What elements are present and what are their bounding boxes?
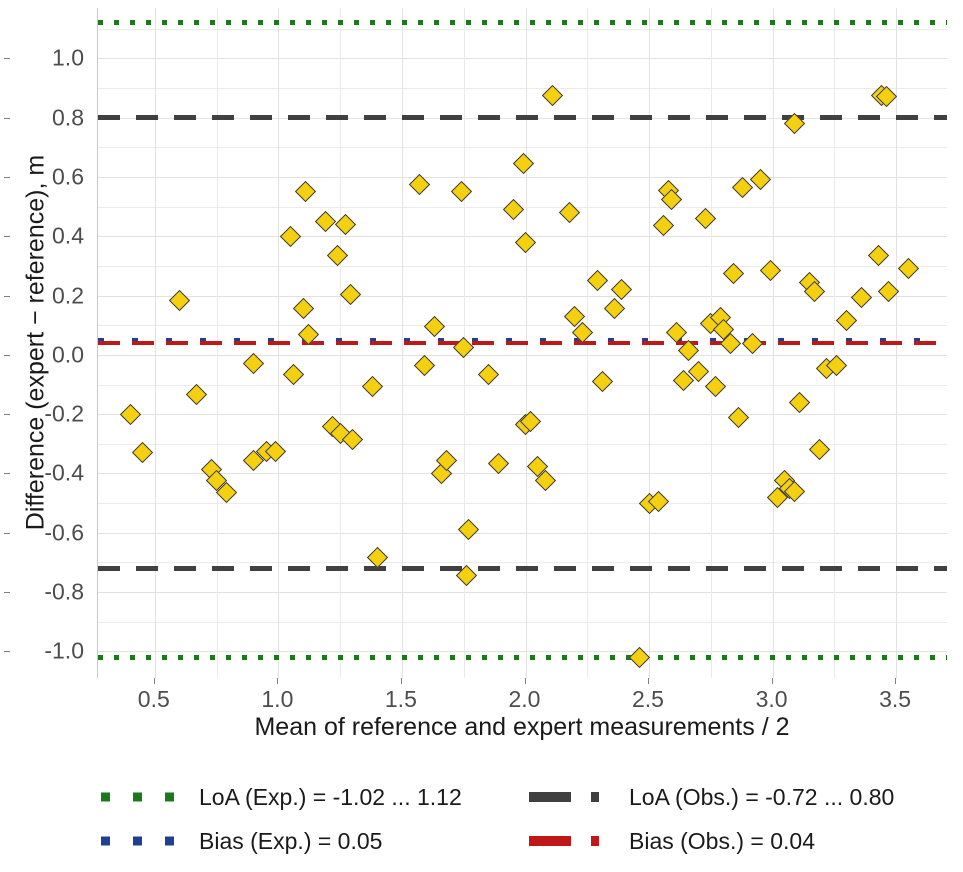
gridline-horizontal-minor [98, 147, 947, 148]
y-axis-tick [4, 177, 10, 178]
legend-key-loa-exp-icon [97, 786, 193, 808]
data-point [705, 375, 726, 396]
legend-key-bias-obs-icon [527, 830, 623, 852]
y-axis-tick-label: 1.0 [20, 45, 84, 72]
x-axis-tick-label: 1.5 [361, 686, 441, 713]
y-axis-tick-label: 0.2 [20, 282, 84, 309]
y-axis-tick-label: 0.0 [20, 341, 84, 368]
data-point [653, 215, 674, 236]
legend-entry-loa-exp: LoA (Exp.) = -1.02 ... 1.12 [97, 784, 527, 811]
data-point [809, 439, 830, 460]
y-axis-tick [4, 58, 10, 59]
x-axis-title: Mean of reference and expert measurement… [97, 713, 947, 742]
y-axis-tick-label: -0.2 [20, 401, 84, 428]
data-point [283, 363, 304, 384]
x-axis-tick [895, 678, 896, 684]
gridline-horizontal-major [98, 533, 947, 534]
gridline-horizontal-major [98, 58, 947, 59]
y-axis-tick [4, 473, 10, 474]
data-point [695, 208, 716, 229]
legend-entry-loa-obs: LoA (Obs.) = -0.72 ... 0.80 [527, 784, 947, 811]
gridline-horizontal-major [98, 592, 947, 593]
gridline-horizontal-minor [98, 88, 947, 89]
x-axis-tick [772, 678, 773, 684]
data-point [836, 310, 857, 331]
x-axis-tick-label: 2.5 [608, 686, 688, 713]
reference-line-loa-obs-lower [98, 566, 947, 571]
data-point [362, 375, 383, 396]
plot-area [98, 8, 947, 678]
chart-legend: LoA (Exp.) = -1.02 ... 1.12LoA (Obs.) = … [97, 775, 947, 863]
data-point [789, 392, 810, 413]
data-point [119, 404, 140, 425]
data-point [868, 245, 889, 266]
gridline-horizontal-minor [98, 325, 947, 326]
data-point [898, 258, 919, 279]
data-point [759, 260, 780, 281]
data-point [243, 353, 264, 374]
gridline-horizontal-major [98, 473, 947, 474]
gridline-horizontal-major [98, 355, 947, 356]
data-point [727, 406, 748, 427]
x-axis-tick [525, 678, 526, 684]
y-axis-tick-label: -0.6 [20, 519, 84, 546]
y-axis-tick-label: 0.4 [20, 223, 84, 250]
x-axis-tick-label: 3.0 [732, 686, 812, 713]
x-axis-tick [277, 678, 278, 684]
y-axis-tick-label: 0.6 [20, 164, 84, 191]
x-axis-tick [401, 678, 402, 684]
gridline-horizontal-minor [98, 266, 947, 267]
legend-label-bias-exp: Bias (Exp.) = 0.05 [199, 828, 382, 855]
data-point [186, 384, 207, 405]
y-axis-tick [4, 651, 10, 652]
data-point [334, 214, 355, 235]
data-point [512, 153, 533, 174]
data-point [628, 647, 649, 668]
reference-line-loa-obs-upper [98, 115, 947, 120]
legend-entry-bias-exp: Bias (Exp.) = 0.05 [97, 828, 527, 855]
y-axis-tick [4, 118, 10, 119]
y-axis-tick [4, 236, 10, 237]
reference-line-loa-exp-lower [98, 655, 947, 660]
x-axis-tick-label: 2.0 [485, 686, 565, 713]
legend-entry-bias-obs: Bias (Obs.) = 0.04 [527, 828, 947, 855]
gridline-horizontal-minor [98, 29, 947, 30]
data-point [451, 181, 472, 202]
y-axis-tick-label: -0.4 [20, 460, 84, 487]
data-point [742, 332, 763, 353]
data-point [478, 363, 499, 384]
data-point [423, 316, 444, 337]
x-axis-tick [648, 678, 649, 684]
data-point [339, 283, 360, 304]
x-axis-tick-label: 1.0 [237, 686, 317, 713]
gridline-horizontal-minor [98, 562, 947, 563]
gridline-horizontal-minor [98, 385, 947, 386]
x-axis-tick [154, 678, 155, 684]
plot-panel [97, 8, 947, 678]
data-point [515, 232, 536, 253]
gridline-horizontal-major [98, 177, 947, 178]
data-point [315, 211, 336, 232]
y-axis-tick-label: -1.0 [20, 638, 84, 665]
data-point [280, 226, 301, 247]
data-point [586, 270, 607, 291]
data-point [851, 286, 872, 307]
data-point [488, 452, 509, 473]
data-point [169, 289, 190, 310]
y-axis-tick [4, 533, 10, 534]
y-axis-tick-label: -0.8 [20, 579, 84, 606]
gridline-horizontal-minor [98, 503, 947, 504]
reference-line-loa-exp-upper [98, 20, 947, 25]
x-axis-tick-label: 0.5 [114, 686, 194, 713]
data-point [414, 355, 435, 376]
data-point [327, 245, 348, 266]
y-axis-tick [4, 414, 10, 415]
data-point [502, 199, 523, 220]
data-point [132, 442, 153, 463]
data-point [591, 371, 612, 392]
legend-label-loa-exp: LoA (Exp.) = -1.02 ... 1.12 [199, 784, 462, 811]
bland-altman-chart: Difference (expert − reference), m Mean … [0, 0, 963, 872]
data-point [458, 519, 479, 540]
legend-key-bias-exp-icon [97, 830, 193, 852]
y-axis-tick [4, 355, 10, 356]
y-axis-tick-label: 0.8 [20, 104, 84, 131]
legend-label-bias-obs: Bias (Obs.) = 0.04 [629, 828, 815, 855]
data-point [604, 298, 625, 319]
x-axis-tick-label: 3.5 [855, 686, 935, 713]
y-axis-tick [4, 592, 10, 593]
reference-line-bias-obs [98, 341, 947, 345]
y-axis-tick [4, 296, 10, 297]
legend-label-loa-obs: LoA (Obs.) = -0.72 ... 0.80 [629, 784, 894, 811]
data-point [292, 298, 313, 319]
data-point [559, 202, 580, 223]
legend-key-loa-obs-icon [527, 786, 623, 808]
gridline-horizontal-minor [98, 622, 947, 623]
gridline-horizontal-major [98, 651, 947, 652]
data-point [295, 181, 316, 202]
